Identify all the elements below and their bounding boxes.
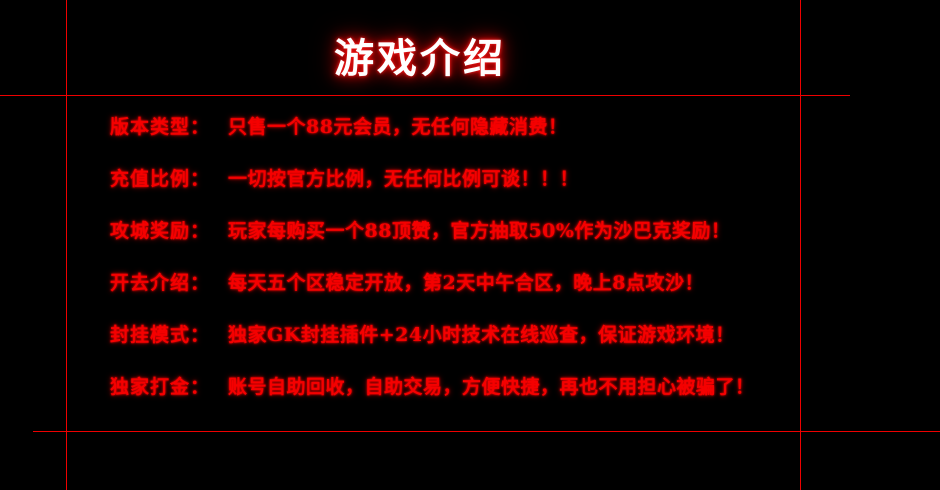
- promo-banner: 游戏介绍 版本类型： 只售一个88元会员，无任何隐藏消费！ 充值比例： 一切按官…: [0, 0, 940, 490]
- info-row-label: 独家打金：: [110, 372, 228, 399]
- list-item: 封挂模式： 独家GK封挂插件+24小时技术在线巡查，保证游戏环境！: [110, 320, 810, 372]
- info-row-value: 玩家每购买一个88顶赞，官方抽取50%作为沙巴克奖励！: [228, 216, 730, 243]
- info-list: 版本类型： 只售一个88元会员，无任何隐藏消费！ 充值比例： 一切按官方比例，无…: [110, 112, 810, 424]
- list-item: 开去介绍： 每天五个区稳定开放，第2天中午合区，晚上8点攻沙！: [110, 268, 810, 320]
- info-row-label: 封挂模式：: [110, 320, 228, 347]
- info-row-value: 每天五个区稳定开放，第2天中午合区，晚上8点攻沙！: [228, 268, 704, 295]
- list-item: 独家打金： 账号自助回收，自助交易，方便快捷，再也不用担心被骗了！: [110, 372, 810, 424]
- frame-line-horizontal-top: [0, 95, 850, 96]
- info-row-label: 版本类型：: [110, 112, 228, 139]
- page-title: 游戏介绍: [0, 26, 840, 84]
- list-item: 版本类型： 只售一个88元会员，无任何隐藏消费！: [110, 112, 810, 164]
- info-row-label: 攻城奖励：: [110, 216, 228, 243]
- info-row-value: 账号自助回收，自助交易，方便快捷，再也不用担心被骗了！: [228, 372, 755, 399]
- list-item: 充值比例： 一切按官方比例，无任何比例可谈！！！: [110, 164, 810, 216]
- frame-line-horizontal-bottom: [33, 431, 940, 432]
- list-item: 攻城奖励： 玩家每购买一个88顶赞，官方抽取50%作为沙巴克奖励！: [110, 216, 810, 268]
- info-row-label: 充值比例：: [110, 164, 228, 191]
- info-row-value: 只售一个88元会员，无任何隐藏消费！: [228, 112, 567, 139]
- info-row-value: 一切按官方比例，无任何比例可谈！！！: [228, 164, 579, 191]
- info-row-label: 开去介绍：: [110, 268, 228, 295]
- info-row-value: 独家GK封挂插件+24小时技术在线巡查，保证游戏环境！: [228, 320, 735, 347]
